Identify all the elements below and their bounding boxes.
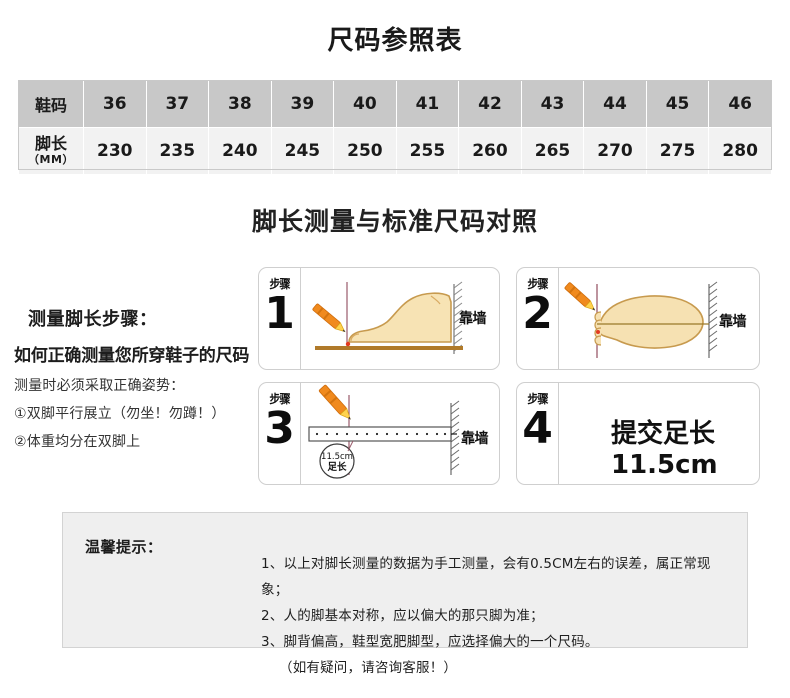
wall-label: 靠墙: [719, 311, 746, 331]
step-panel-3: 步骤 3: [258, 382, 500, 485]
table-cell: 245: [271, 128, 334, 175]
step-panel-2: 步骤 2: [516, 267, 760, 370]
row-header-foot-length: 脚长 （MM）: [19, 128, 84, 175]
row-header-foot-length-unit: （MM）: [20, 154, 82, 167]
table-cell: 40: [334, 81, 397, 128]
instructions-sub-lead: 如何正确测量您所穿鞋子的尺码: [14, 341, 264, 366]
table-cell: 255: [396, 128, 459, 175]
step-illustration-ruler: 11.5cm 足长 靠墙: [301, 383, 499, 484]
table-cell: 36: [84, 81, 147, 128]
step-number: 1: [259, 293, 300, 335]
callout-label: 足长: [327, 461, 347, 473]
step-caption: 步骤: [519, 275, 557, 292]
step-caption: 步骤: [261, 275, 299, 292]
table-cell: 270: [584, 128, 647, 175]
wall-label: 靠墙: [461, 428, 488, 448]
step-4-content: 提交足长11.5cm: [559, 383, 759, 484]
row-header-foot-length-main: 脚长: [35, 134, 67, 153]
table-cell: 280: [709, 128, 772, 175]
table-cell: 43: [521, 81, 584, 128]
step-caption: 步骤: [519, 390, 557, 407]
tips-label: 温馨提示：: [85, 536, 163, 557]
step-panel-4: 步骤 4 提交足长11.5cm: [516, 382, 760, 485]
wall-label: 靠墙: [459, 308, 486, 328]
table-cell: 235: [146, 128, 209, 175]
step-illustration-side-foot: 靠墙: [301, 268, 499, 369]
step-badge-3: 步骤 3: [259, 383, 301, 484]
table-cell: 265: [521, 128, 584, 175]
instructions-lead: 测量脚长步骤：: [14, 305, 264, 331]
table-row-foot-length: 脚长 （MM） 230 235 240 245 250 255 260 265 …: [19, 128, 772, 175]
tips-item: 1、以上对脚长测量的数据为手工测量，会有0.5CM左右的误差，属正常现象；: [261, 551, 735, 603]
step-panel-1: 步骤 1: [258, 267, 500, 370]
step-number: 2: [517, 293, 558, 335]
table-cell: 39: [271, 81, 334, 128]
submit-foot-length-text: 提交足长11.5cm: [611, 413, 759, 480]
table-cell: 42: [459, 81, 522, 128]
tips-item: 2、人的脚基本对称，应以偏大的那只脚为准；: [261, 603, 735, 629]
size-reference-table: 鞋码 36 37 38 39 40 41 42 43 44 45 46 脚长 （…: [18, 80, 772, 175]
table-cell: 250: [334, 128, 397, 175]
step-illustration-top-foot: 靠墙: [559, 268, 759, 369]
row-header-shoe-size: 鞋码: [19, 81, 84, 128]
instructions-note: ②体重均分在双脚上: [14, 431, 264, 451]
step-caption: 步骤: [261, 390, 299, 407]
table-cell: 41: [396, 81, 459, 128]
step-badge-4: 步骤 4: [517, 383, 559, 484]
table-cell: 260: [459, 128, 522, 175]
table-cell: 240: [209, 128, 272, 175]
tips-item: （如有疑问，请咨询客服！）: [261, 655, 735, 681]
table-row-shoe-size: 鞋码 36 37 38 39 40 41 42 43 44 45 46: [19, 81, 772, 128]
table-cell: 230: [84, 128, 147, 175]
callout-value: 11.5cm: [321, 452, 353, 462]
table-cell: 44: [584, 81, 647, 128]
tips-box: 温馨提示： 1、以上对脚长测量的数据为手工测量，会有0.5CM左右的误差，属正常…: [62, 512, 748, 648]
table-cell: 45: [646, 81, 709, 128]
table-cell: 46: [709, 81, 772, 128]
step-badge-1: 步骤 1: [259, 268, 301, 369]
table-cell: 38: [209, 81, 272, 128]
step-number: 4: [517, 408, 558, 450]
tips-item: 3、脚背偏高，鞋型宽肥脚型，应选择偏大的一个尺码。: [261, 629, 735, 655]
tips-list: 1、以上对脚长测量的数据为手工测量，会有0.5CM左右的误差，属正常现象； 2、…: [221, 551, 735, 681]
instructions-note: ①双脚平行展立（勿坐！勿蹲！）: [14, 403, 264, 423]
section-heading: 脚长测量与标准尺码对照: [0, 202, 790, 238]
instructions-note: 测量时必须采取正确姿势：: [14, 375, 264, 395]
table-cell: 37: [146, 81, 209, 128]
step-badge-2: 步骤 2: [517, 268, 559, 369]
step-number: 3: [259, 408, 300, 450]
instructions-block: 测量脚长步骤： 如何正确测量您所穿鞋子的尺码 测量时必须采取正确姿势： ①双脚平…: [14, 305, 264, 459]
page-title: 尺码参照表: [0, 20, 790, 57]
table-cell: 275: [646, 128, 709, 175]
